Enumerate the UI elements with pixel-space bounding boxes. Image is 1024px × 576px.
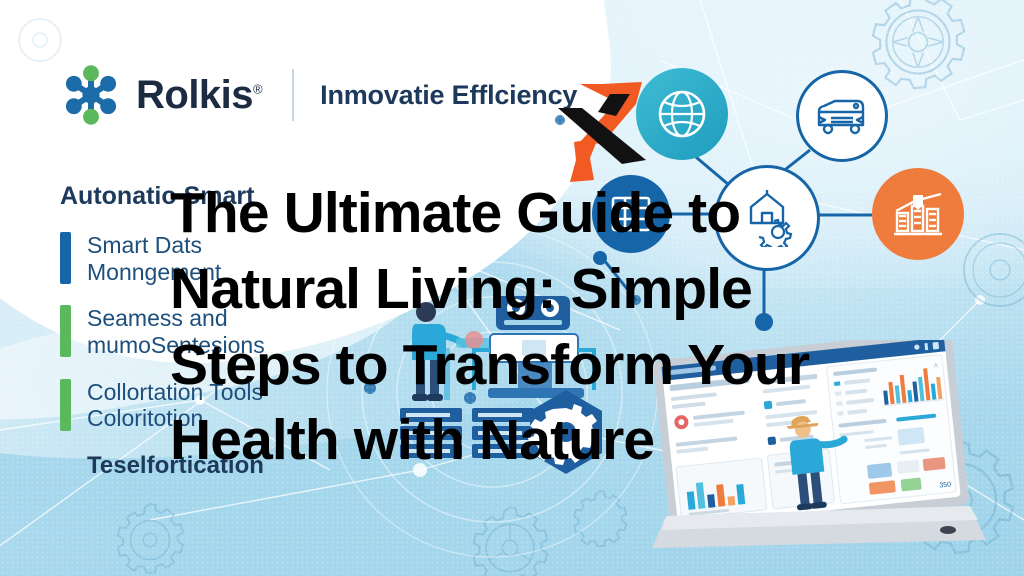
x-arrow-logo-icon [552, 72, 656, 184]
node-van[interactable] [796, 70, 888, 162]
svg-text:A: A [934, 363, 939, 369]
svg-text:350: 350 [939, 481, 951, 489]
globe-icon [656, 88, 708, 140]
node-bar-growth[interactable] [872, 168, 964, 260]
headline-line: Steps to Transform Your [170, 328, 850, 404]
headline-line: Health with Nature [170, 403, 850, 479]
bar-growth-icon [891, 189, 945, 239]
headline-line: The Ultimate Guide to [170, 176, 850, 252]
page-title: The Ultimate Guide to Natural Living: Si… [170, 176, 850, 479]
van-icon [815, 95, 869, 137]
headline-line: Natural Living: Simple [170, 252, 850, 328]
banner-canvas: Rolkis® Inmovatie Efflciency Autonatio S… [0, 0, 1024, 576]
